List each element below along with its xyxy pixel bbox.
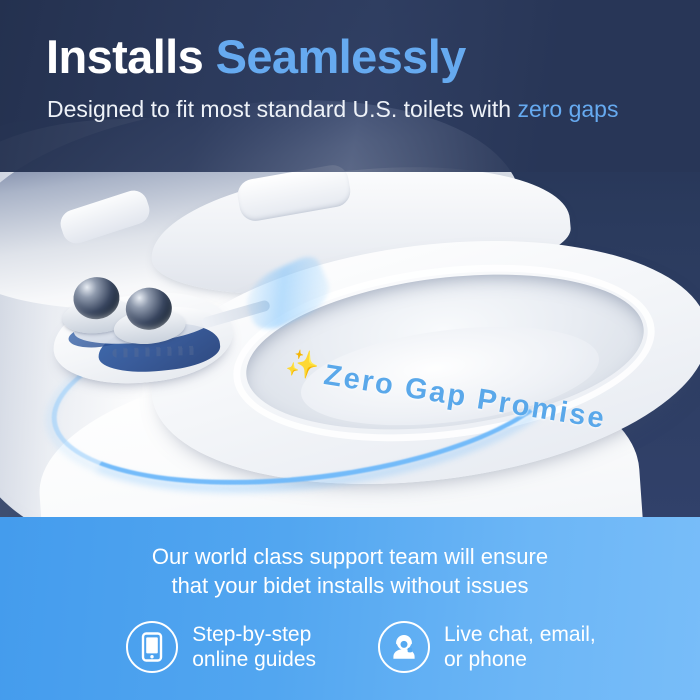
feature-item-online-guides: Step-by-step online guides (126, 621, 316, 673)
feature-list: Step-by-step online guides Live chat, em… (0, 621, 700, 673)
page-title: Installs Seamlessly (46, 33, 466, 80)
subtitle-primary: Designed to fit most standard U.S. toile… (47, 96, 517, 122)
mobile-phone-icon (126, 621, 178, 673)
feature-label-live-support: Live chat, email, or phone (444, 622, 596, 672)
subtitle-accent: zero gaps (517, 96, 618, 122)
feature-line2: online guides (192, 648, 316, 671)
support-headline-line2: that your bidet installs without issues (0, 571, 700, 600)
bidet-attachment (47, 262, 248, 396)
feature-line1: Live chat, email, (444, 623, 596, 646)
header-banner: Installs Seamlessly Designed to fit most… (0, 0, 700, 172)
feature-line2: or phone (444, 648, 527, 671)
support-agent-icon (378, 621, 430, 673)
page-subtitle: Designed to fit most standard U.S. toile… (47, 96, 618, 124)
support-headline-line1: Our world class support team will ensure (0, 542, 700, 571)
support-headline: Our world class support team will ensure… (0, 542, 700, 601)
feature-label-online-guides: Step-by-step online guides (192, 622, 316, 672)
feature-item-live-support: Live chat, email, or phone (378, 621, 596, 673)
header-fade (0, 118, 700, 182)
feature-line1: Step-by-step (192, 623, 311, 646)
promo-image: ✨ Zero Gap Promise Installs Seamlessly D… (0, 0, 700, 700)
title-accent: Seamlessly (216, 30, 466, 83)
title-primary: Installs (46, 30, 216, 83)
support-panel: Our world class support team will ensure… (0, 517, 700, 700)
